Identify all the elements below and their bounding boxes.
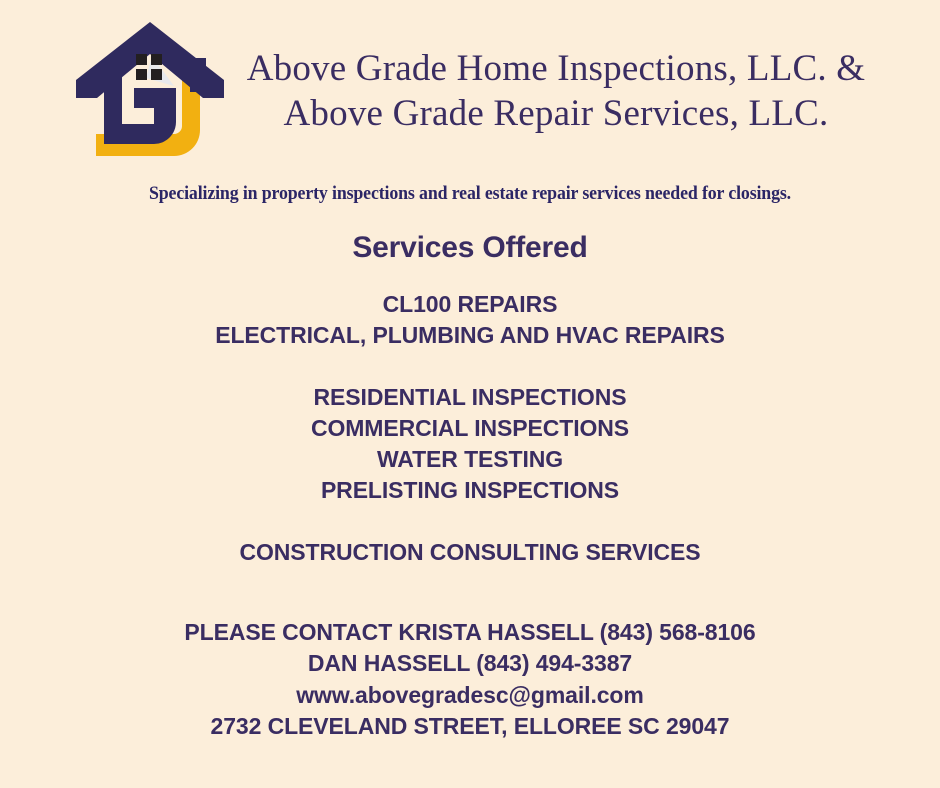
brand-title-line-1: Above Grade Home Inspections, LLC. &: [232, 46, 880, 91]
contact-primary-phone: PLEASE CONTACT KRISTA HASSELL (843) 568-…: [0, 617, 940, 649]
brand-title: Above Grade Home Inspections, LLC. & Abo…: [226, 46, 940, 136]
service-item: RESIDENTIAL INSPECTIONS: [0, 382, 940, 413]
above-grade-house-logo: [74, 16, 226, 166]
contact-block: PLEASE CONTACT KRISTA HASSELL (843) 568-…: [0, 617, 940, 743]
service-item: CL100 REPAIRS: [0, 289, 940, 320]
service-item: CONSTRUCTION CONSULTING SERVICES: [0, 537, 940, 568]
service-item: WATER TESTING: [0, 444, 940, 475]
tagline: Specializing in property inspections and…: [16, 184, 923, 205]
service-group: CL100 REPAIRS ELECTRICAL, PLUMBING AND H…: [0, 289, 940, 352]
service-group: RESIDENTIAL INSPECTIONS COMMERCIAL INSPE…: [0, 382, 940, 507]
brand-title-line-2: Above Grade Repair Services, LLC.: [232, 91, 880, 136]
service-item: COMMERCIAL INSPECTIONS: [0, 413, 940, 444]
service-item: ELECTRICAL, PLUMBING AND HVAC REPAIRS: [0, 320, 940, 351]
contact-address: 2732 CLEVELAND STREET, ELLOREE SC 29047: [0, 711, 940, 743]
contact-email[interactable]: www.abovegradesc@gmail.com: [0, 680, 940, 712]
services-offered-heading: Services Offered: [0, 231, 940, 265]
contact-secondary-phone: DAN HASSELL (843) 494-3387: [0, 648, 940, 680]
header: Above Grade Home Inspections, LLC. & Abo…: [0, 0, 940, 160]
flyer-page: Above Grade Home Inspections, LLC. & Abo…: [0, 0, 940, 788]
services-list: CL100 REPAIRS ELECTRICAL, PLUMBING AND H…: [0, 289, 940, 568]
service-item: PRELISTING INSPECTIONS: [0, 475, 940, 506]
service-group: CONSTRUCTION CONSULTING SERVICES: [0, 537, 940, 568]
